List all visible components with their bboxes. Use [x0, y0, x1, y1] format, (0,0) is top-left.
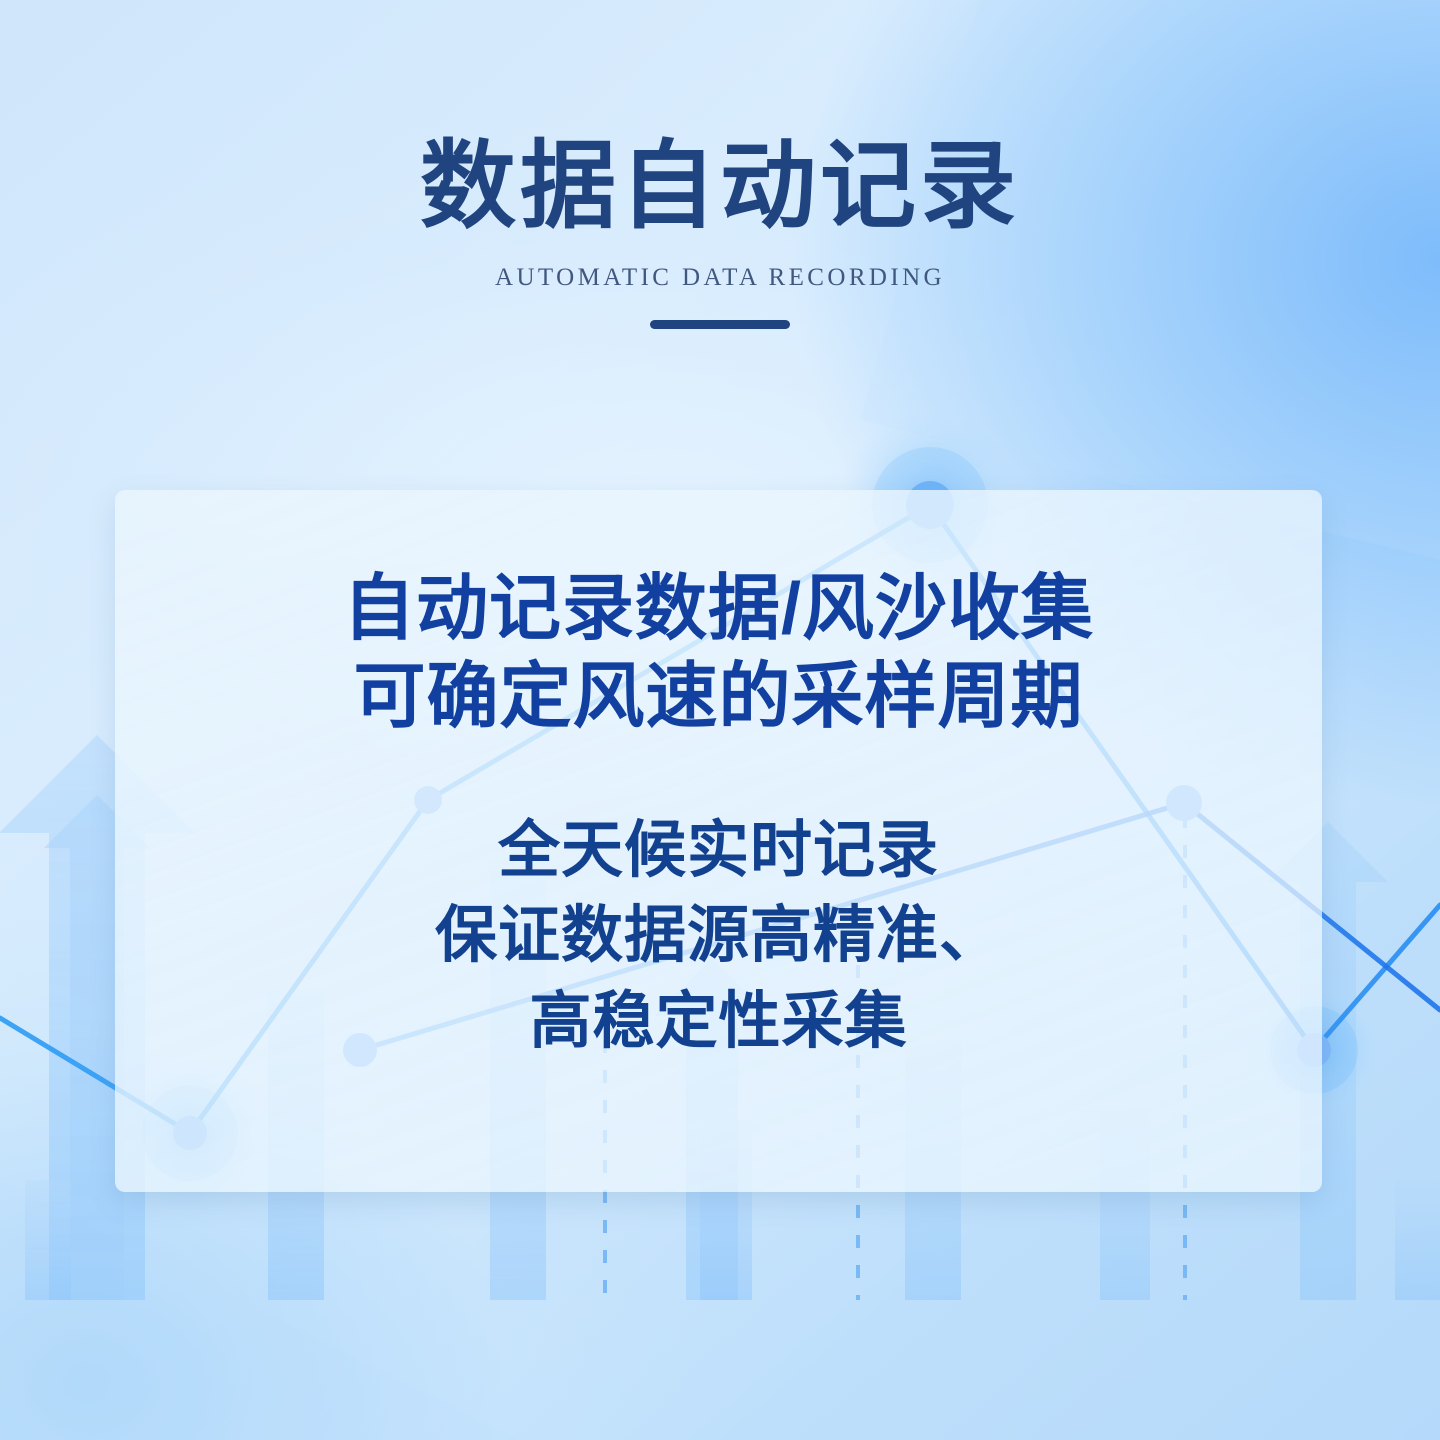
bar-column [25, 1180, 71, 1300]
poster-stage: 数据自动记录 AUTOMATIC DATA RECORDING 自动记录数据/风… [0, 0, 1440, 1440]
feature-card: 自动记录数据/风沙收集 可确定风速的采样周期 全天候实时记录 保证数据源高精准、… [115, 490, 1322, 1192]
page-title: 数据自动记录 [0, 136, 1440, 238]
feature-line: 保证数据源高精准、 [435, 893, 1002, 979]
page-subtitle: AUTOMATIC DATA RECORDING [0, 264, 1440, 292]
bar-column [1395, 1180, 1440, 1300]
feature-line: 全天候实时记录 [435, 808, 1002, 894]
feature-line: 高稳定性采集 [435, 979, 1002, 1065]
feature-block-primary: 自动记录数据/风沙收集 可确定风速的采样周期 [343, 566, 1094, 742]
page-header: 数据自动记录 AUTOMATIC DATA RECORDING [0, 0, 1440, 329]
feature-block-secondary: 全天候实时记录 保证数据源高精准、 高稳定性采集 [435, 808, 1002, 1065]
feature-line: 可确定风速的采样周期 [343, 654, 1094, 742]
title-divider [650, 320, 790, 329]
feature-line: 自动记录数据/风沙收集 [343, 566, 1094, 654]
